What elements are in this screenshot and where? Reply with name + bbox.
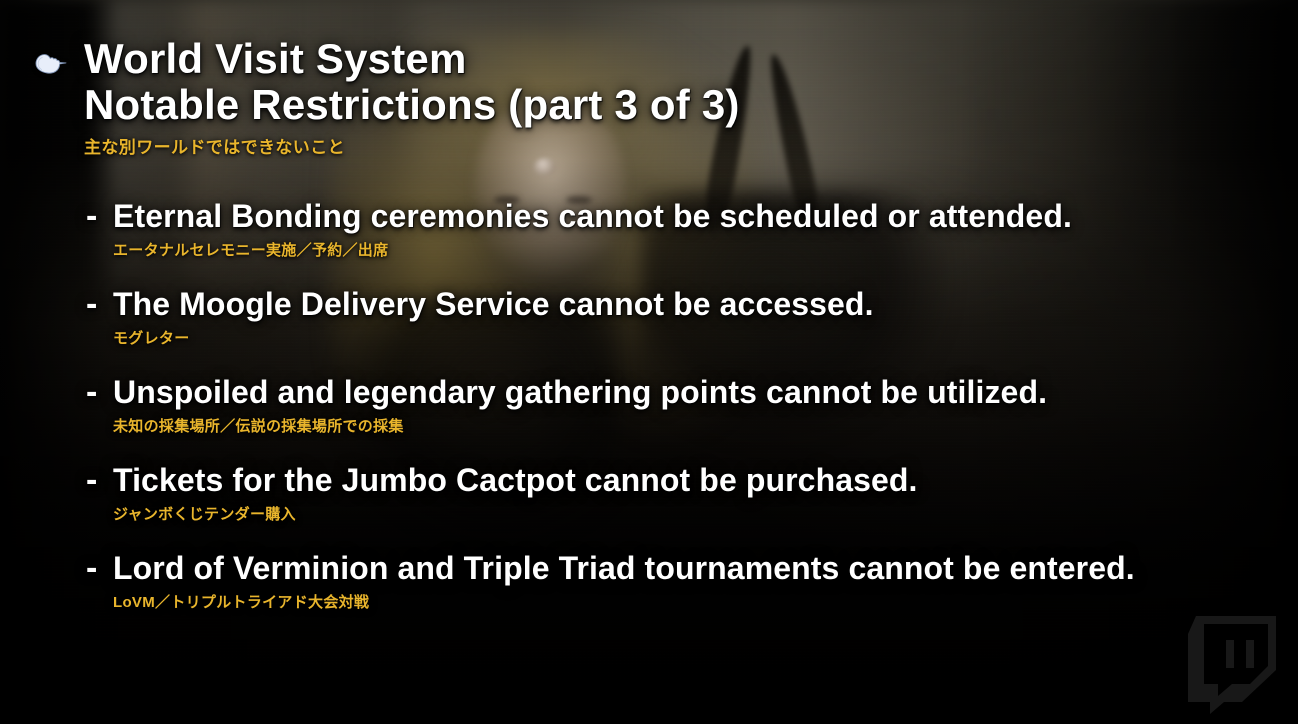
twitch-logo-icon [1180, 610, 1284, 714]
bullet-marker: - [86, 281, 97, 327]
list-item-text-en: Lord of Verminion and Triple Triad tourn… [113, 545, 1273, 591]
list-item: - Lord of Verminion and Triple Triad tou… [0, 545, 1298, 613]
list-item-text-jp: モグレター [113, 329, 1298, 349]
list-item-text-en: Unspoiled and legendary gathering points… [113, 369, 1273, 415]
slide-subtitle-japanese: 主な別ワールドではできないこと [0, 133, 1298, 158]
restrictions-list: - Eternal Bonding ceremonies cannot be s… [0, 193, 1298, 613]
slide-header: World Visit System Notable Restrictions … [0, 36, 1298, 158]
list-item-text-jp: LoVM／トリプルトライアド大会対戦 [113, 593, 1298, 613]
list-item: - Eternal Bonding ceremonies cannot be s… [0, 193, 1298, 261]
slide-content: World Visit System Notable Restrictions … [0, 0, 1298, 724]
slide-title-line-1: World Visit System [84, 36, 1298, 82]
list-item-text-jp: ジャンボくじテンダー購入 [113, 505, 1298, 525]
list-item-text-en: Tickets for the Jumbo Cactpot cannot be … [113, 457, 1273, 503]
list-item-text-jp: 未知の採集場所／伝説の採集場所での採集 [113, 417, 1298, 437]
bullet-marker: - [86, 369, 97, 415]
bullet-marker: - [86, 457, 97, 503]
bullet-marker: - [86, 193, 97, 239]
bullet-marker: - [86, 545, 97, 591]
list-item: - Unspoiled and legendary gathering poin… [0, 369, 1298, 437]
slide-title-line-2: Notable Restrictions (part 3 of 3) [84, 82, 1298, 128]
list-item-text-jp: エータナルセレモニー実施／予約／出席 [113, 241, 1298, 261]
slide-title-block: World Visit System Notable Restrictions … [0, 36, 1298, 128]
presentation-slide: World Visit System Notable Restrictions … [0, 0, 1298, 724]
list-item-text-en: The Moogle Delivery Service cannot be ac… [113, 281, 1273, 327]
list-item-text-en: Eternal Bonding ceremonies cannot be sch… [113, 193, 1273, 239]
list-item: - Tickets for the Jumbo Cactpot cannot b… [0, 457, 1298, 525]
list-item: - The Moogle Delivery Service cannot be … [0, 281, 1298, 349]
pointing-hand-icon [30, 48, 72, 82]
